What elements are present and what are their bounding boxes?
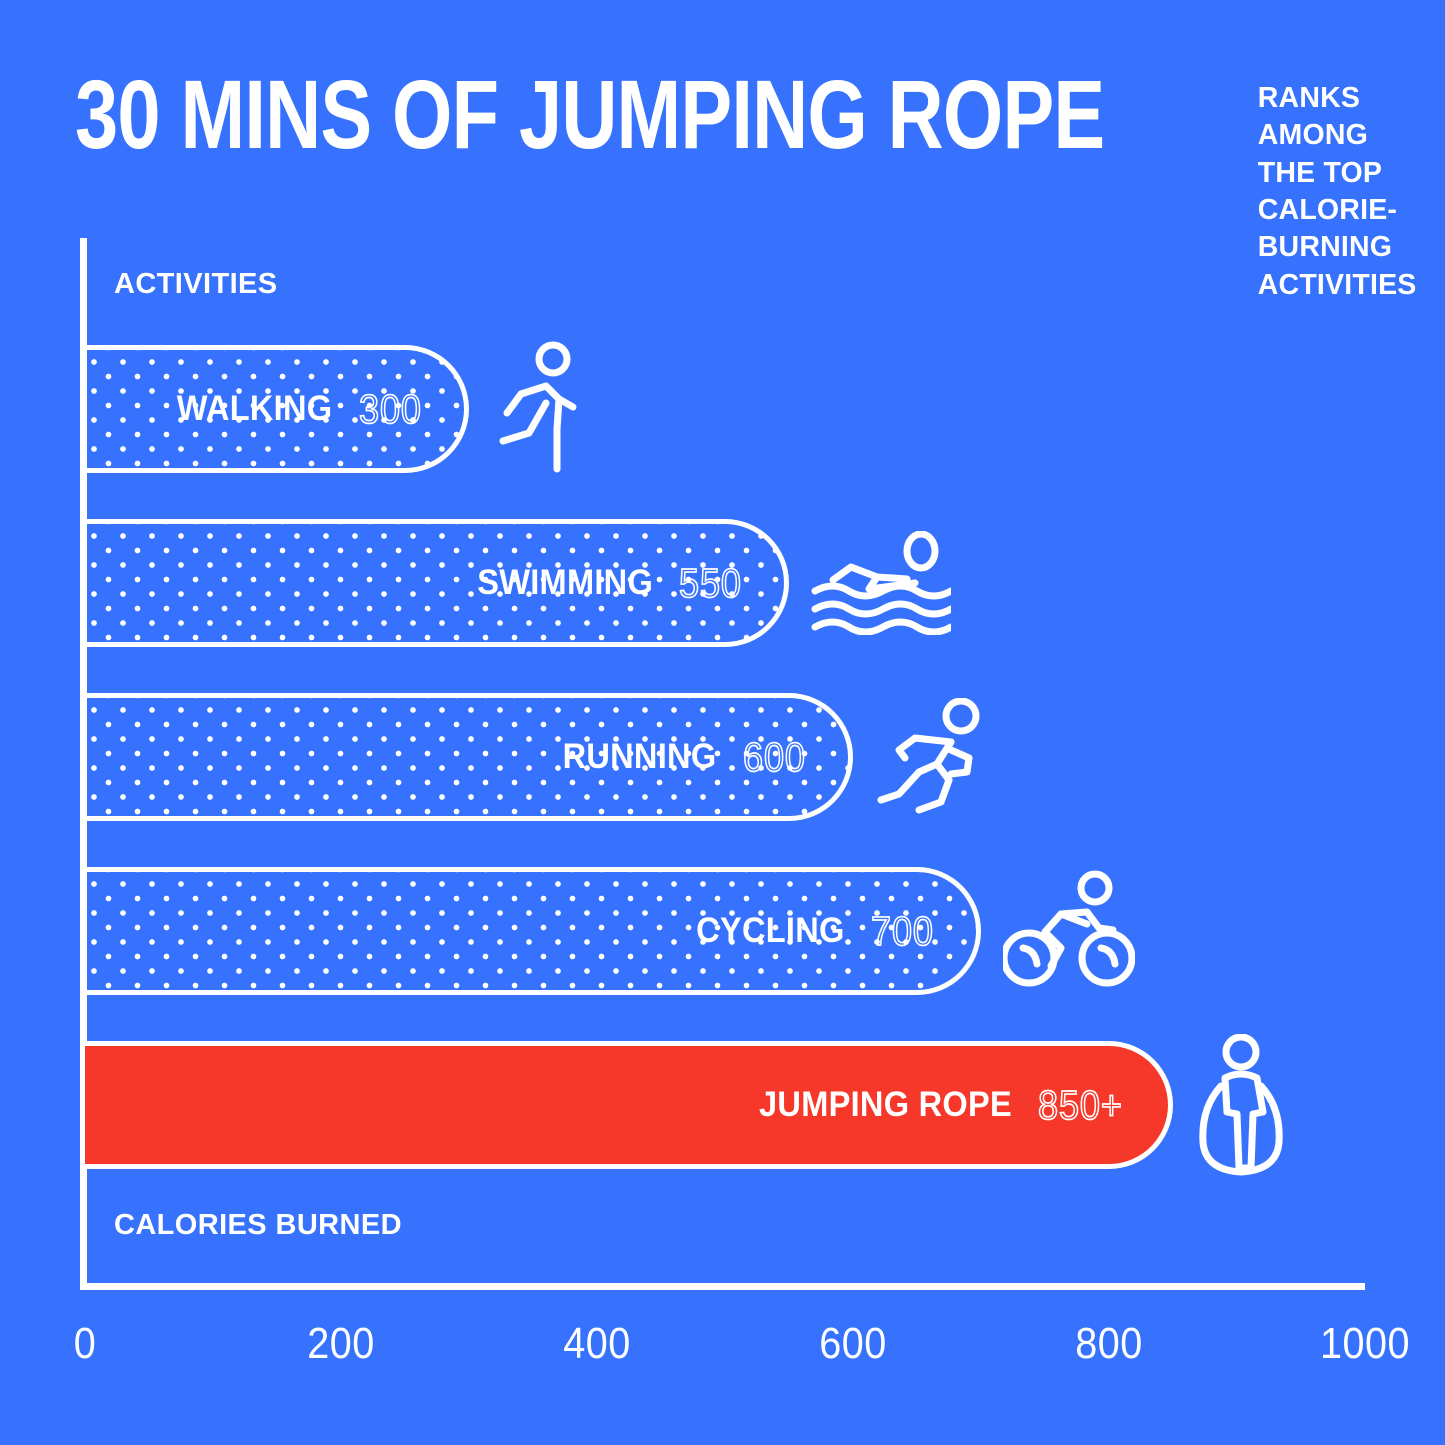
bar-row: RUNNING600 bbox=[85, 693, 1365, 821]
running-icon bbox=[875, 698, 987, 816]
bar-label: JUMPING ROPE bbox=[759, 1085, 1012, 1125]
bar-cycling[interactable]: CYCLING700 bbox=[85, 867, 981, 995]
swimming-icon bbox=[811, 531, 951, 635]
bar-running[interactable]: RUNNING600 bbox=[85, 693, 853, 821]
x-tick-0: 0 bbox=[74, 1319, 96, 1369]
bar-jumping-rope[interactable]: JUMPING ROPE850+ bbox=[85, 1041, 1173, 1169]
bar-value: 300 bbox=[359, 386, 422, 433]
x-tick-400: 400 bbox=[563, 1319, 630, 1369]
bar-row: SWIMMING550 bbox=[85, 519, 1365, 647]
x-axis-label: CALORIES BURNED bbox=[114, 1209, 402, 1242]
x-tick-600: 600 bbox=[819, 1319, 886, 1369]
x-axis-line bbox=[80, 1283, 1365, 1290]
x-tick-1000: 1000 bbox=[1320, 1319, 1410, 1369]
bar-walking[interactable]: WALKING300 bbox=[85, 345, 469, 473]
y-axis-label: ACTIVITIES bbox=[114, 268, 278, 301]
jumping-rope-icon bbox=[1195, 1034, 1287, 1176]
x-tick-800: 800 bbox=[1075, 1319, 1142, 1369]
walking-icon bbox=[491, 341, 583, 477]
bar-value: 600 bbox=[743, 734, 806, 781]
bar-value: 550 bbox=[679, 560, 742, 607]
bar-swimming[interactable]: SWIMMING550 bbox=[85, 519, 789, 647]
x-tick-200: 200 bbox=[307, 1319, 374, 1369]
bar-label: CYCLING bbox=[696, 911, 844, 951]
cycling-icon bbox=[1003, 870, 1135, 992]
bar-value: 850+ bbox=[1038, 1082, 1123, 1129]
bar-label: SWIMMING bbox=[477, 563, 653, 603]
bar-row: CYCLING700 bbox=[85, 867, 1365, 995]
bar-chart: ACTIVITIES CALORIES BURNED WALKING300 SW… bbox=[0, 0, 1445, 1445]
x-axis-ticks: 02004006008001000 bbox=[0, 1319, 1445, 1379]
bar-row: JUMPING ROPE850+ bbox=[85, 1041, 1365, 1169]
bar-series: WALKING300 SWIMMING550 RUNNING600 CYCLIN… bbox=[85, 345, 1365, 1169]
bar-label: RUNNING bbox=[563, 737, 717, 777]
bar-row: WALKING300 bbox=[85, 345, 1365, 473]
bar-value: 700 bbox=[871, 908, 934, 955]
bar-label: WALKING bbox=[177, 389, 333, 429]
